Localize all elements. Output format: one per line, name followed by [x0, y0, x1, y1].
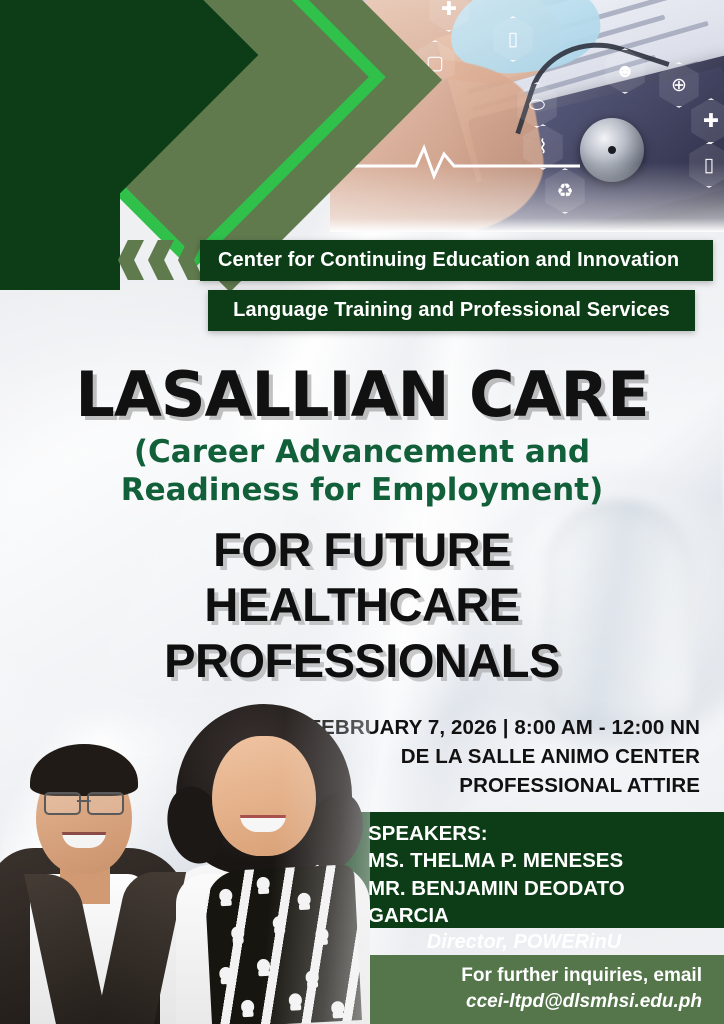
subtitle-line-2: Readiness for Employment) [0, 472, 724, 510]
speaker-role: Director, POWERinU [368, 929, 710, 956]
eyeglasses-icon [44, 792, 124, 812]
speakers-list: SPEAKERS: MS. THELMA P. MENESES MR. BENJ… [368, 820, 710, 956]
speakers-panel: SPEAKERS: MS. THELMA P. MENESES MR. BENJ… [330, 812, 724, 928]
speaker-photos [0, 694, 360, 1024]
speaker-name-1: MS. THELMA P. MENESES [368, 847, 710, 874]
footer-contact: For further inquiries, email ccei-ltpd@d… [330, 963, 702, 1015]
contact-email[interactable]: ccei-ltpd@dlsmhsi.edu.ph [330, 989, 702, 1015]
subtitle-line-1: (Career Advancement and [0, 434, 724, 472]
inquiry-label: For further inquiries, email [330, 963, 702, 989]
audience-line-2: HEALTHCARE [0, 577, 724, 632]
speaker-name-2: MR. BENJAMIN DEODATO GARCIA [368, 875, 710, 930]
female-face [212, 736, 316, 856]
female-patterned-scarf [204, 864, 362, 1024]
poster-title: LASALLIAN CARE [0, 358, 724, 431]
speakers-heading: SPEAKERS: [368, 820, 710, 847]
audience-headline: FOR FUTURE HEALTHCARE PROFESSIONALS [0, 522, 724, 688]
footer-band: For further inquiries, email ccei-ltpd@d… [330, 955, 724, 1024]
org-banner-secondary: Language Training and Professional Servi… [208, 290, 695, 331]
male-hair [30, 744, 138, 796]
poster-subtitle: (Career Advancement and Readiness for Em… [0, 434, 724, 510]
dark-green-block [0, 0, 120, 290]
org-banner-primary: Center for Continuing Education and Inno… [200, 240, 713, 281]
poster-canvas: ✚ ▯ ▢ ☻ ⊕ ✚ ⬭ ⌇ ▯ ♻ Center for Continuin… [0, 0, 724, 1024]
audience-line-3: PROFESSIONALS [0, 633, 724, 688]
audience-line-1: FOR FUTURE [0, 522, 724, 577]
chevron-left-icon [118, 240, 144, 280]
chevron-left-icon [148, 240, 174, 280]
chevron-marks [118, 240, 204, 280]
event-date-time: FEBRUARY 7, 2026 | 8:00 AM - 12:00 NN [280, 713, 700, 742]
